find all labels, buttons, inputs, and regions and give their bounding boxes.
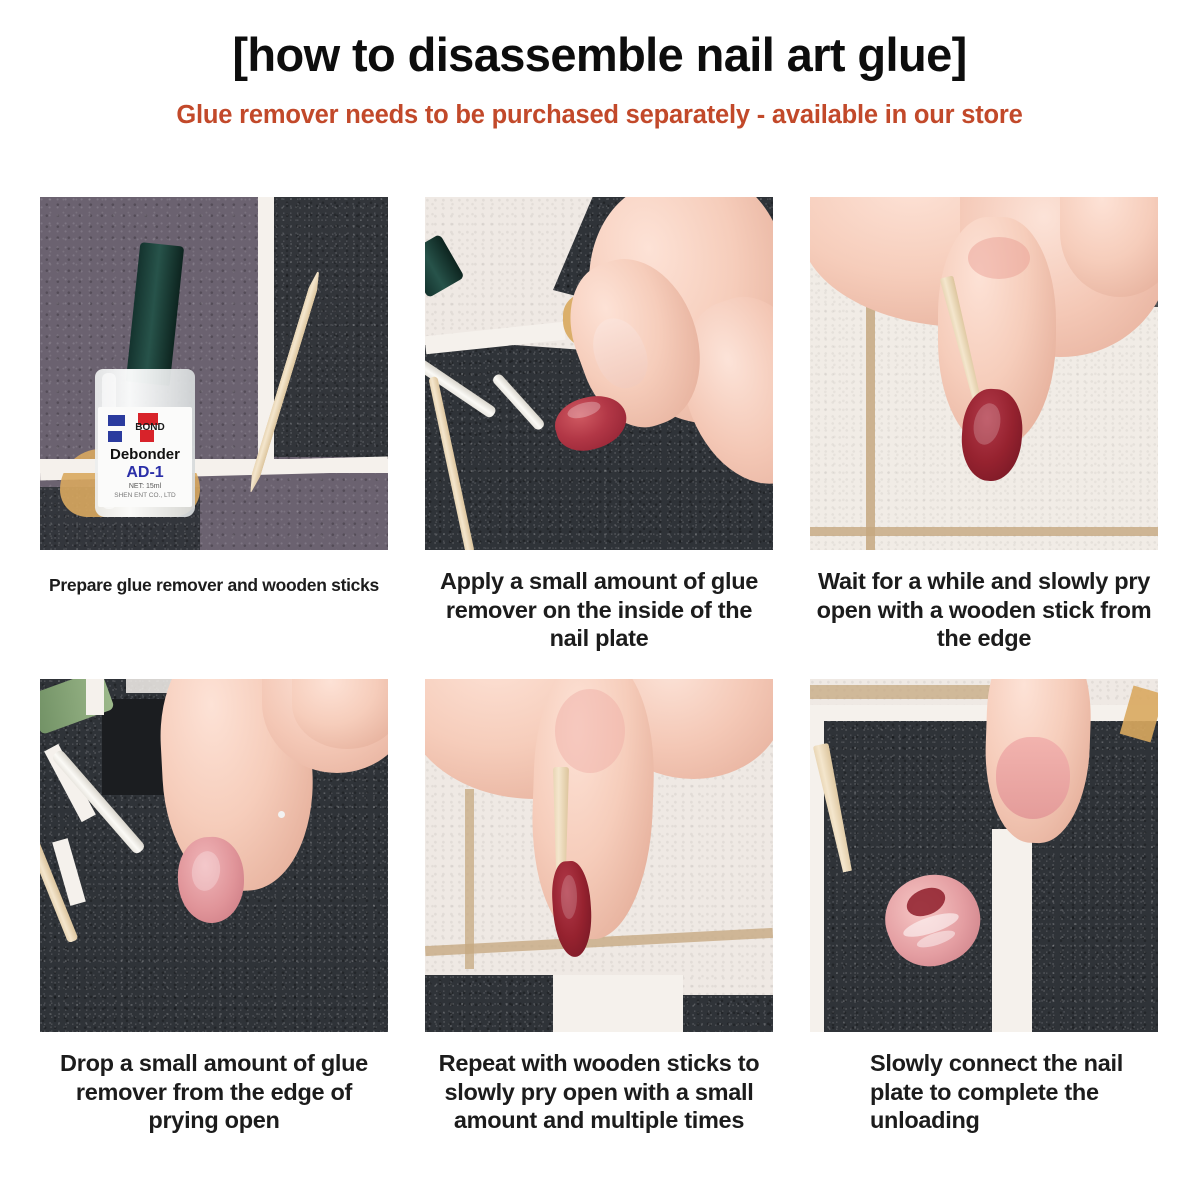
step-caption-5: Repeat with wooden sticks to slowly pry … [425,1049,773,1135]
bottle-name-text: Debonder [98,447,192,462]
step-caption-3: Wait for a while and slowly pry open wit… [810,567,1158,653]
bottle-label: BOND Debonder AD-1 NET: 15ml SHEN ENT CO… [98,407,192,507]
step-card-1: BOND Debonder AD-1 NET: 15ml SHEN ENT CO… [40,197,388,653]
steps-grid: BOND Debonder AD-1 NET: 15ml SHEN ENT CO… [40,197,1158,1135]
step-caption-4: Drop a small amount of glue remover from… [40,1049,388,1135]
step-caption-1: Prepare glue remover and wooden sticks [40,575,388,596]
step-photo-1: BOND Debonder AD-1 NET: 15ml SHEN ENT CO… [40,197,388,550]
step-photo-6 [810,679,1158,1032]
step-card-2: Apply a small amount of glue remover on … [425,197,773,653]
step-photo-4 [40,679,388,1032]
step-photo-5 [425,679,773,1032]
step-photo-3 [810,197,1158,550]
bottle-brand-text: BOND [120,423,180,433]
step-photo-2 [425,197,773,550]
bottle-net-text: NET: 15ml [98,483,192,490]
page-header: [how to disassemble nail art glue] Glue … [0,0,1199,129]
step-card-6: Slowly connect the nail plate to complet… [810,679,1158,1135]
step-caption-6: Slowly connect the nail plate to complet… [810,1049,1158,1135]
page-title: [how to disassemble nail art glue] [0,30,1199,79]
bottle-company-text: SHEN ENT CO., LTD [98,493,192,500]
step-card-3: Wait for a while and slowly pry open wit… [810,197,1158,653]
step-card-4: Drop a small amount of glue remover from… [40,679,388,1135]
page-subtitle: Glue remover needs to be purchased separ… [0,101,1199,129]
step-caption-2: Apply a small amount of glue remover on … [425,567,773,653]
step-card-5: Repeat with wooden sticks to slowly pry … [425,679,773,1135]
bottle-code-text: AD-1 [98,465,192,481]
